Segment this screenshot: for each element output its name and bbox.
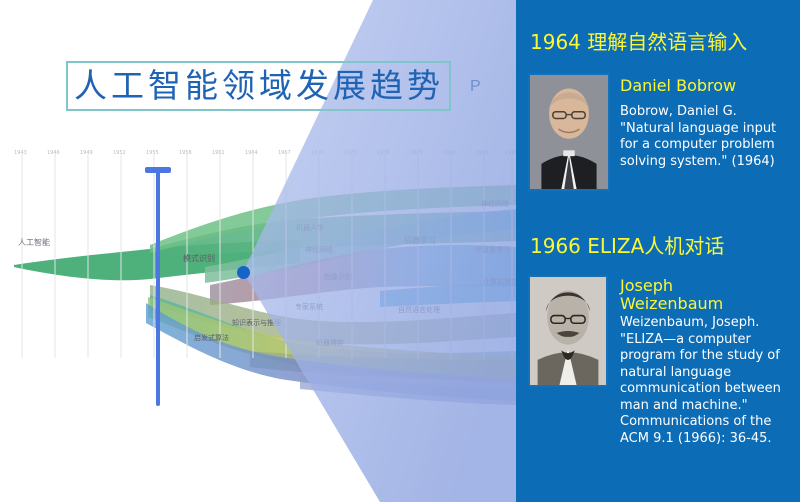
slide-canvas: 1943 1946 1949 1952 1955 1958 1961 1964 …: [0, 0, 800, 502]
stream-label-knowledge-rep: 知识表示与推理: [232, 318, 281, 328]
stream-label-machine-learning: 机器学习: [404, 235, 436, 246]
stream-label-image-recognition: 图像识别: [324, 272, 352, 282]
year-tick-1988: 1988: [505, 150, 516, 156]
info-panel: 1964 理解自然语言输入 Daniel Bobrow Bobrow, Dani…: [516, 0, 800, 502]
year-tick-1955: 1955: [146, 150, 159, 156]
year-tick-1964: 1964: [245, 150, 258, 156]
stream-label-ai-root: 人工智能: [18, 237, 50, 248]
year-tick-1976: 1976: [377, 150, 390, 156]
stream-label-computer-vision: 计算机视觉: [483, 277, 516, 287]
slide-title-suffix: P: [470, 78, 481, 96]
stream-label-heuristic: 启发式算法: [194, 333, 229, 343]
entry-heading-1: 1964 理解自然语言输入: [530, 26, 747, 55]
stream-label-neural-network-right: 神经网络: [481, 199, 509, 209]
stream-label-expert-system: 专家系统: [295, 302, 323, 312]
year-tick-1949: 1949: [80, 150, 93, 156]
entry-person-name-1: Daniel Bobrow: [620, 77, 736, 95]
year-tick-1982: 1982: [443, 150, 456, 156]
stream-label-semi-supervised: 半监督学习: [475, 245, 510, 255]
year-tick-1952: 1952: [113, 150, 126, 156]
entry-citation-1: Bobrow, Daniel G. "Natural language inpu…: [620, 104, 792, 170]
daniel-bobrow-portrait: [528, 73, 610, 191]
year-gridlines: [0, 148, 516, 408]
year-tick-1946: 1946: [47, 150, 60, 156]
stream-label-robotics: 机器人学: [296, 223, 324, 233]
entry-heading-2: 1966 ELIZA人机对话: [530, 230, 724, 259]
year-tick-1967: 1967: [278, 150, 291, 156]
stream-label-nlp: 自然语言处理: [398, 305, 440, 315]
year-tick-1985: 1985: [476, 150, 489, 156]
year-tick-1973: 1973: [344, 150, 357, 156]
year-tick-1970: 1970: [311, 150, 324, 156]
year-tick-1961: 1961: [212, 150, 225, 156]
stream-label-neural-network-left: 神经网络: [305, 245, 333, 255]
stream-label-machine-game: 机器博弈: [316, 338, 344, 348]
entry-citation-2: Weizenbaum, Joseph. "ELIZA—a computer pr…: [620, 315, 796, 447]
page-title: 人工智能领域发展趋势: [74, 63, 444, 109]
presentation-slide: 1943 1946 1949 1952 1955 1958 1961 1964 …: [0, 0, 516, 502]
year-tick-1943: 1943: [14, 150, 27, 156]
joseph-weizenbaum-portrait: [528, 275, 608, 387]
year-tick-1979: 1979: [410, 150, 423, 156]
timeline-slider-track[interactable]: [156, 170, 160, 406]
entry-person-name-2: Joseph Weizenbaum: [620, 277, 770, 313]
timeline-marker-dot[interactable]: [237, 266, 250, 279]
stream-label-pattern-recognition: 模式识别: [183, 253, 215, 264]
year-tick-1958: 1958: [179, 150, 192, 156]
